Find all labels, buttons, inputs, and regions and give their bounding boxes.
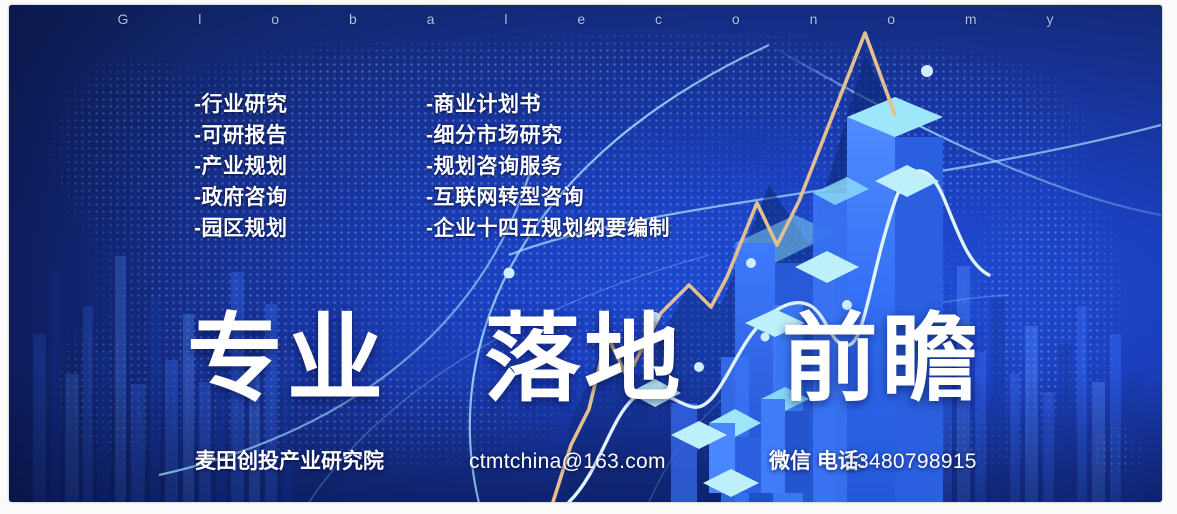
header-global-economy: G l o b a l e c o n o m y bbox=[9, 11, 1162, 27]
service-item: -互联网转型咨询 bbox=[426, 182, 670, 213]
service-column-left: -行业研究 -可研报告 -产业规划 -政府咨询 -园区规划 bbox=[194, 89, 288, 244]
service-column-right: -商业计划书 -细分市场研究 -规划咨询服务 -互联网转型咨询 -企业十四五规划… bbox=[426, 89, 670, 244]
service-item: -园区规划 bbox=[194, 213, 288, 244]
service-item: -细分市场研究 bbox=[426, 120, 670, 151]
headline-word-1: 专业 bbox=[187, 306, 387, 413]
service-item: -政府咨询 bbox=[194, 182, 288, 213]
chart-artwork bbox=[9, 5, 1162, 502]
dot bbox=[921, 65, 933, 77]
service-item: -企业十四五规划纲要编制 bbox=[426, 213, 670, 244]
promotional-banner: G l o b a l e c o n o m y -行业研究 -可研报告 -产… bbox=[9, 5, 1162, 502]
footer-contact-row: 麦田创投产业研究院 ctmtchina@163.com 微信 电话: 13480… bbox=[9, 445, 1162, 479]
banner-root: G l o b a l e c o n o m y -行业研究 -可研报告 -产… bbox=[0, 0, 1177, 514]
service-item: -行业研究 bbox=[194, 89, 288, 120]
dot bbox=[746, 258, 756, 268]
dot bbox=[504, 268, 515, 279]
service-item: -可研报告 bbox=[194, 120, 288, 151]
service-item: -商业计划书 bbox=[426, 89, 670, 120]
service-item: -产业规划 bbox=[194, 151, 288, 182]
contact-phone[interactable]: 13480798915 bbox=[845, 445, 977, 479]
headline-word-2: 落地 bbox=[484, 306, 684, 413]
headline-word-3: 前瞻 bbox=[782, 306, 982, 413]
contact-email[interactable]: ctmtchina@163.com bbox=[469, 445, 666, 479]
service-item: -规划咨询服务 bbox=[426, 151, 670, 182]
organization-name: 麦田创投产业研究院 bbox=[195, 445, 384, 479]
headline-slogan: 专业 落地 前瞻 bbox=[187, 301, 982, 419]
